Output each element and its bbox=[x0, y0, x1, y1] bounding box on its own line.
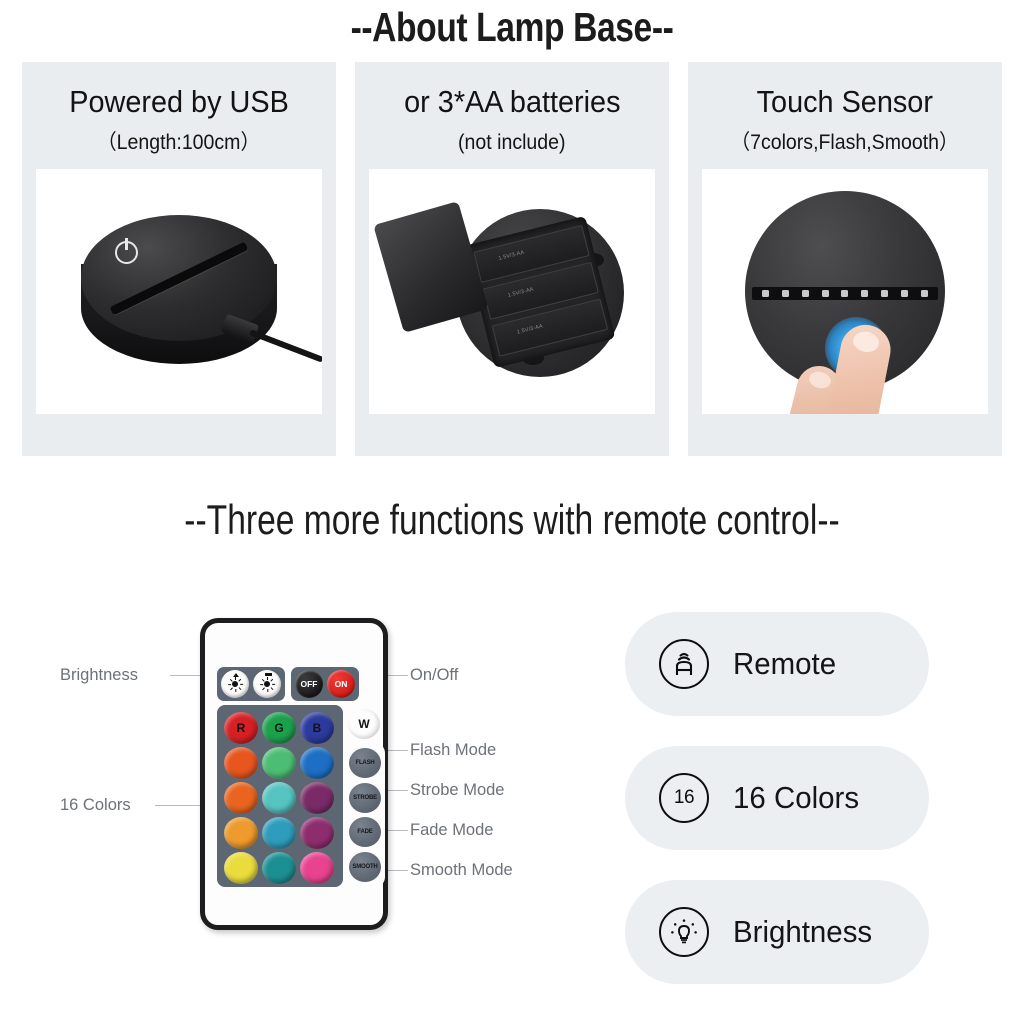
panel-powered-by-usb: Powered by USB （Length:100cm） bbox=[22, 62, 336, 456]
fade-mode-button[interactable]: FADE bbox=[349, 817, 381, 847]
feature-badge-list: Remote 16 16 Colors Brightness bbox=[625, 612, 929, 984]
power-button-group: OFF ON bbox=[291, 667, 359, 701]
three-more-functions-heading: --Three more functions with remote contr… bbox=[102, 496, 921, 544]
callout-brightness: Brightness bbox=[60, 666, 138, 685]
touch-sensor-photo bbox=[702, 169, 988, 414]
panel-title: Touch Sensor bbox=[757, 86, 933, 117]
led-dot bbox=[881, 290, 888, 297]
callout-flash-mode: Flash Mode bbox=[410, 741, 496, 760]
lamp-base-panels: Powered by USB （Length:100cm） or 3*AA ba… bbox=[22, 62, 1002, 456]
usb-cable bbox=[249, 329, 322, 363]
remote-signal-icon bbox=[659, 639, 709, 689]
callout-smooth-mode: Smooth Mode bbox=[410, 861, 513, 880]
panel-aa-batteries: or 3*AA batteries (not include) 1.5V/3-A… bbox=[355, 62, 669, 456]
color-button-red[interactable]: R bbox=[224, 712, 258, 744]
sixteen-icon: 16 bbox=[659, 773, 709, 823]
color-button[interactable] bbox=[224, 747, 258, 779]
battery-label: 1.5V/3-AA bbox=[507, 287, 534, 299]
color-button[interactable] bbox=[224, 817, 258, 849]
color-button-pad: R G B bbox=[217, 705, 343, 887]
remote-top-row: OFF ON bbox=[217, 667, 377, 701]
usb-lamp-base-photo bbox=[36, 169, 322, 414]
brightness-up-button[interactable] bbox=[221, 670, 249, 698]
callout-16-colors: 16 Colors bbox=[60, 796, 131, 815]
led-dot bbox=[762, 290, 769, 297]
led-dot bbox=[802, 290, 809, 297]
mode-button-column: FLASH STROBE FADE SMOOTH bbox=[345, 743, 385, 887]
color-button-white[interactable]: W bbox=[348, 709, 380, 739]
led-dot bbox=[901, 290, 908, 297]
color-button[interactable] bbox=[224, 782, 258, 814]
color-button[interactable] bbox=[262, 782, 296, 814]
color-button[interactable] bbox=[300, 782, 334, 814]
panel-touch-sensor: Touch Sensor （7colors,Flash,Smooth） bbox=[688, 62, 1002, 456]
battery-cover-lid bbox=[373, 201, 488, 333]
color-button[interactable] bbox=[224, 852, 258, 884]
about-lamp-base-heading: --About Lamp Base-- bbox=[92, 4, 932, 51]
callout-on-off: On/Off bbox=[410, 666, 458, 685]
sixteen-number: 16 bbox=[674, 787, 694, 809]
brightness-button-group bbox=[217, 667, 285, 701]
color-button[interactable] bbox=[300, 817, 334, 849]
brightness-down-icon bbox=[261, 678, 274, 691]
panel-title: Powered by USB bbox=[69, 86, 289, 117]
panel-subtitle: （7colors,Flash,Smooth） bbox=[731, 132, 959, 153]
off-button[interactable]: OFF bbox=[295, 670, 323, 698]
flash-mode-button[interactable]: FLASH bbox=[349, 748, 381, 778]
color-button-grid: R G B bbox=[222, 710, 336, 885]
color-button-green[interactable]: G bbox=[262, 712, 296, 744]
color-button[interactable] bbox=[300, 747, 334, 779]
power-icon bbox=[115, 241, 138, 264]
battery-label: 1.5V/3-AA bbox=[516, 323, 543, 335]
badge-label: 16 Colors bbox=[733, 780, 859, 816]
led-dot bbox=[822, 290, 829, 297]
color-button-blue[interactable]: B bbox=[300, 712, 334, 744]
brightness-up-icon bbox=[229, 678, 242, 691]
callout-strobe-mode: Strobe Mode bbox=[410, 781, 504, 800]
battery-compartment-photo: 1.5V/3-AA 1.5V/3-AA 1.5V/3-AA bbox=[369, 169, 655, 414]
remote-control-diagram: Brightness 16 Colors On/Off Flash Mode S… bbox=[0, 600, 620, 960]
led-dot bbox=[841, 290, 848, 297]
panel-subtitle: (not include) bbox=[458, 132, 565, 153]
badge-label: Remote bbox=[733, 646, 836, 682]
color-button[interactable] bbox=[262, 852, 296, 884]
callout-fade-mode: Fade Mode bbox=[410, 821, 493, 840]
brightness-down-button[interactable] bbox=[253, 670, 281, 698]
led-strip bbox=[752, 287, 938, 300]
badge-remote: Remote bbox=[625, 612, 929, 716]
remote-control-body[interactable]: OFF ON R G B W bbox=[200, 618, 388, 930]
bulb-icon bbox=[659, 907, 709, 957]
panel-subtitle: （Length:100cm） bbox=[98, 132, 261, 153]
color-button[interactable] bbox=[300, 852, 334, 884]
strobe-mode-button[interactable]: STROBE bbox=[349, 783, 381, 813]
panel-title: or 3*AA batteries bbox=[404, 86, 620, 117]
battery-label: 1.5V/3-AA bbox=[498, 250, 525, 262]
led-dot bbox=[921, 290, 928, 297]
smooth-mode-button[interactable]: SMOOTH bbox=[349, 852, 381, 882]
badge-16-colors: 16 16 Colors bbox=[625, 746, 929, 850]
badge-brightness: Brightness bbox=[625, 880, 929, 984]
badge-label: Brightness bbox=[733, 914, 872, 950]
led-dot bbox=[861, 290, 868, 297]
led-dot bbox=[782, 290, 789, 297]
on-button[interactable]: ON bbox=[327, 670, 355, 698]
battery-bay: 1.5V/3-AA 1.5V/3-AA 1.5V/3-AA bbox=[465, 216, 616, 368]
callout-line bbox=[386, 675, 408, 676]
color-button[interactable] bbox=[262, 817, 296, 849]
color-button[interactable] bbox=[262, 747, 296, 779]
